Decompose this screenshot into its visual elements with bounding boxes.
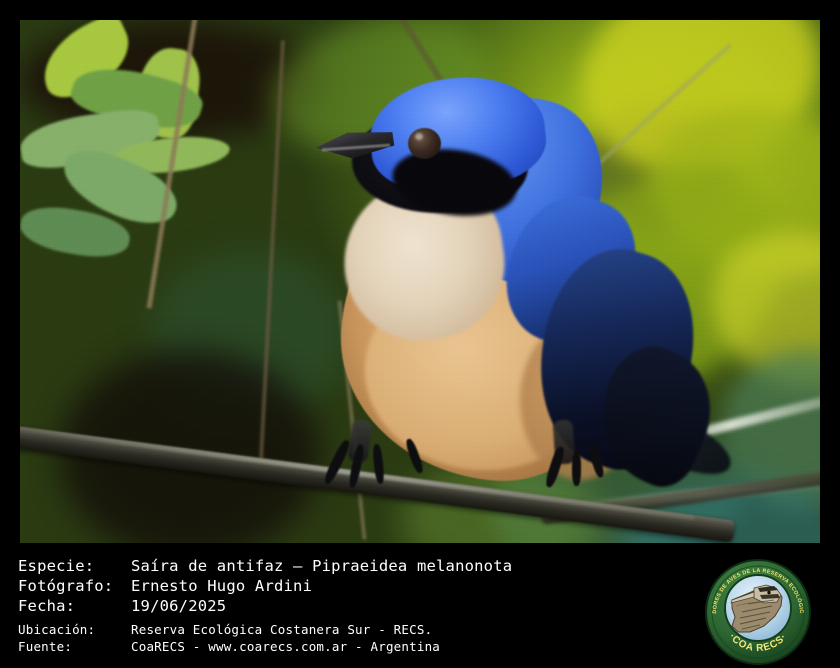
caption-value-especie: Saíra de antifaz – Pipraeidea melanonota bbox=[131, 556, 512, 576]
caption-value-fecha: 19/06/2025 bbox=[131, 596, 226, 616]
caption-label-fecha: Fecha: bbox=[0, 596, 131, 616]
coa-recs-bird-emblem: CLUB DE OBSERVADORES DE AVES DE LA RESER… bbox=[702, 556, 814, 668]
bird-photograph bbox=[20, 20, 820, 543]
caption-value-fotografo: Ernesto Hugo Ardini bbox=[131, 576, 312, 596]
caption-label-fotografo: Fotógrafo: bbox=[0, 576, 131, 596]
caption-value-fuente: CoaRECS - www.coarecs.com.ar - Argentina bbox=[131, 638, 440, 655]
caption-label-especie: Especie: bbox=[0, 556, 131, 576]
caption-label-fuente: Fuente: bbox=[0, 638, 131, 655]
caption-label-ubicacion: Ubicación: bbox=[0, 621, 131, 638]
photo-card: Especie: Saíra de antifaz – Pipraeidea m… bbox=[0, 0, 840, 668]
caption-value-ubicacion: Reserva Ecológica Costanera Sur - RECS. bbox=[131, 621, 432, 638]
photo-grain bbox=[20, 20, 820, 543]
coa-recs-logo: CLUB DE OBSERVADORES DE AVES DE LA RESER… bbox=[702, 556, 814, 668]
